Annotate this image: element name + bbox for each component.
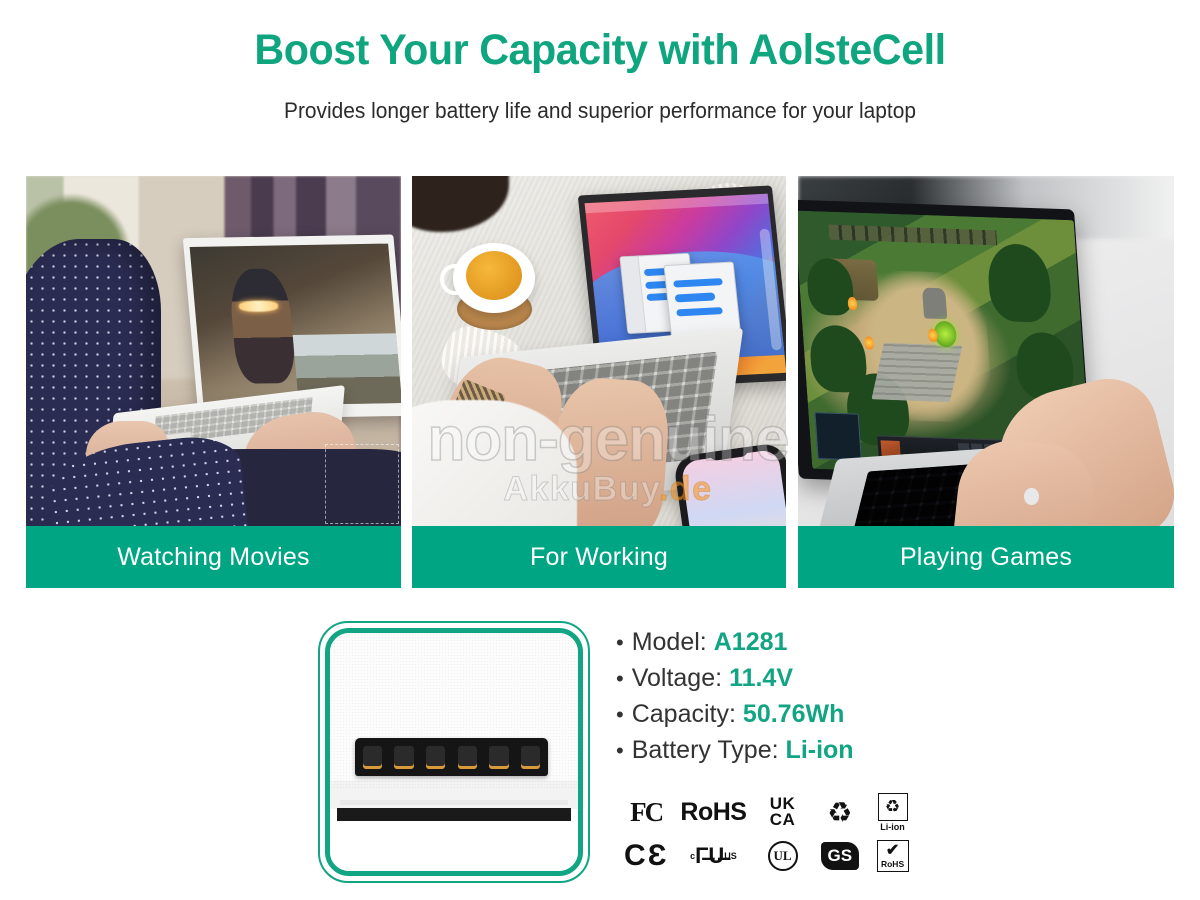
bullet-icon: • <box>616 740 624 762</box>
product-marketing-page: Boost Your Capacity with AolsteCell Prov… <box>0 0 1200 900</box>
bullet-icon: • <box>616 704 624 726</box>
rohs-icon: RoHS <box>674 798 752 827</box>
contact-pin <box>426 746 446 769</box>
certification-row-2: CƐ c Γ̶U̶ US UL GS ✔ RoHS <box>618 834 918 878</box>
game-stone-stairs <box>871 342 962 401</box>
scenario-photo-for-working <box>412 176 786 526</box>
spec-row-battery-type: • Battery Type: Li-ion <box>616 736 956 765</box>
laptop-screen <box>190 243 401 406</box>
battery-black-strip <box>337 808 570 821</box>
contact-pin <box>521 746 541 769</box>
game-tree <box>986 242 1053 322</box>
check-icon: ✔ <box>886 843 899 859</box>
scenario-card-playing-games: Playing Games <box>798 176 1174 588</box>
rohs-label: RoHS <box>881 859 904 869</box>
cup-handle <box>440 264 470 296</box>
spec-label: Battery Type: <box>632 736 779 765</box>
movie-character <box>227 267 296 383</box>
game-tower <box>922 287 947 319</box>
header: Boost Your Capacity with AolsteCell Prov… <box>0 0 1200 160</box>
dashed-marker <box>325 444 399 524</box>
spec-row-model: • Model: A1281 <box>616 628 956 657</box>
scenario-caption: Playing Games <box>798 526 1174 588</box>
chat-bubble <box>676 307 723 317</box>
scenario-caption: Watching Movies <box>26 526 401 588</box>
ukca-bottom: CA <box>770 812 796 828</box>
game-torch <box>864 336 873 349</box>
page-subtitle: Provides longer battery life and superio… <box>30 98 1170 124</box>
rohs-check-icon: ✔ RoHS <box>867 840 918 872</box>
certification-row-1: FC RoHS UK CA ♻ ♻ Li-ion <box>618 790 918 834</box>
ul-mark: Γ̶U̶ <box>695 843 724 869</box>
chat-bubble <box>674 293 716 302</box>
gs-mark: GS <box>821 842 859 870</box>
scenario-photo-watching-movies <box>26 176 401 526</box>
scenario-photo-playing-games <box>798 176 1174 526</box>
li-ion-label: Li-ion <box>880 822 905 832</box>
game-torch <box>928 328 937 341</box>
ul-icon: UL <box>753 841 813 871</box>
spec-row-voltage: • Voltage: 11.4V <box>616 664 956 693</box>
spec-label: Model: <box>632 628 707 657</box>
scenario-card-for-working: For Working <box>412 176 786 588</box>
battery-edge-lip <box>340 800 568 806</box>
scenario-card-watching-movies: Watching Movies <box>26 176 401 588</box>
battery-connector <box>355 738 548 776</box>
ce-icon: CƐ <box>618 839 674 873</box>
spec-value: A1281 <box>714 628 788 657</box>
spec-value: 50.76Wh <box>743 700 844 729</box>
li-ion-recycle-symbol: ♻ <box>878 793 908 821</box>
chat-bubble <box>673 278 723 288</box>
spec-label: Capacity: <box>632 700 736 729</box>
bullet-icon: • <box>616 632 624 654</box>
game-minimap <box>814 412 862 460</box>
cul-suffix: US <box>724 851 737 861</box>
spec-value: 11.4V <box>729 664 793 693</box>
phone-screen <box>681 449 786 526</box>
scenario-caption: For Working <box>412 526 786 588</box>
li-ion-recycle-icon: ♻ Li-ion <box>867 793 918 832</box>
spec-row-capacity: • Capacity: 50.76Wh <box>616 700 956 729</box>
battery-contact-pins <box>363 746 541 769</box>
ul-circle: UL <box>768 841 798 871</box>
fcc-icon: FC <box>618 797 674 828</box>
contact-pin <box>394 746 414 769</box>
contact-pin <box>363 746 383 769</box>
contact-pin <box>489 746 509 769</box>
specifications-list: • Model: A1281 • Voltage: 11.4V • Capaci… <box>616 628 956 772</box>
page-title: Boost Your Capacity with AolsteCell <box>24 26 1176 75</box>
finger-ring <box>1024 488 1039 506</box>
spec-value: Li-ion <box>786 736 854 765</box>
battery-product-frame <box>318 621 590 883</box>
recycle-icon: ♻ <box>813 796 868 829</box>
movie-character-eyes <box>238 299 279 311</box>
contact-pin <box>458 746 478 769</box>
game-top-hud <box>828 224 997 245</box>
cul-us-icon: c Γ̶U̶ US <box>674 843 752 869</box>
battery-product-image <box>325 628 583 876</box>
certification-marks: FC RoHS UK CA ♻ ♻ Li-ion CƐ c Γ̶U̶ US UL <box>618 790 918 878</box>
smartphone <box>673 442 786 526</box>
battery-body <box>330 633 578 871</box>
bullet-icon: • <box>616 668 624 690</box>
spec-label: Voltage: <box>632 664 722 693</box>
game-torch <box>847 297 856 310</box>
gs-icon: GS <box>813 842 868 870</box>
ukca-icon: UK CA <box>753 796 813 827</box>
rohs-check-box: ✔ RoHS <box>877 840 909 872</box>
